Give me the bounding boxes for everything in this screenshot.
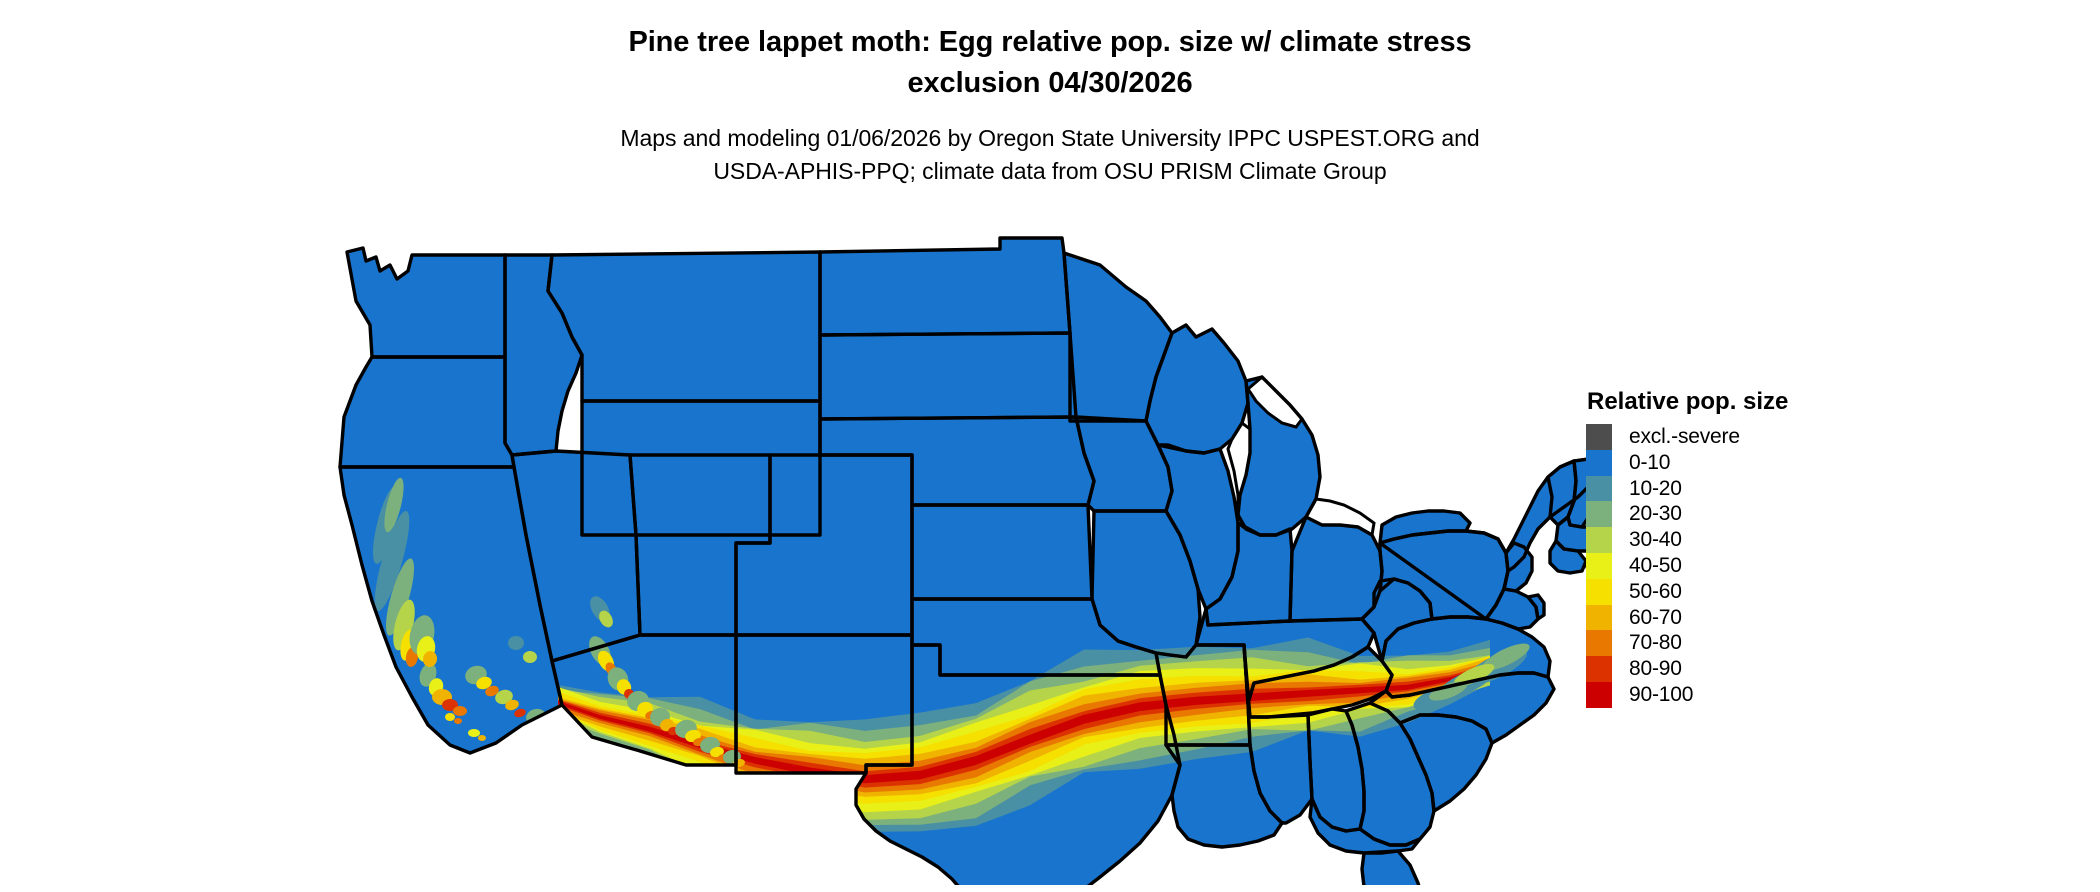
page-subtitle-line-1: Maps and modeling 01/06/2026 by Oregon S… [0,122,2100,155]
suitability-hotspot [453,706,467,716]
legend-item-label: 0-10 [1612,450,1670,476]
legend-item-label: 80-90 [1612,656,1682,682]
legend-item-label: 90-100 [1612,682,1693,708]
legend-swatch [1586,579,1612,605]
page-subtitle: Maps and modeling 01/06/2026 by Oregon S… [0,104,2100,188]
legend-item: 40-50 [1586,553,1916,579]
legend-swatch [1586,682,1612,708]
legend-swatch [1586,527,1612,553]
state-sd [820,333,1076,419]
legend-swatch [1586,450,1612,476]
suitability-hotspot [545,728,559,739]
state-mt [548,252,820,401]
legend-item-label: 10-20 [1612,476,1682,502]
legend-swatch [1586,553,1612,579]
page-title: Pine tree lappet moth: Egg relative pop.… [0,0,2100,104]
suitability-hotspot [468,729,480,737]
legend-items: excl.-severe0-1010-2020-3030-4040-5050-6… [1586,424,1916,708]
legend-item-label: 20-30 [1612,501,1682,527]
legend-swatch [1586,424,1612,450]
legend-item: 90-100 [1586,682,1916,708]
suitability-hotspot [454,718,462,724]
header: Pine tree lappet moth: Egg relative pop.… [0,0,2100,188]
legend-item-label: 30-40 [1612,527,1682,553]
map-page: Pine tree lappet moth: Egg relative pop.… [0,0,2100,892]
legend-item: 30-40 [1586,527,1916,553]
suitability-hotspot [391,679,401,687]
legend-item: 50-60 [1586,579,1916,605]
page-subtitle-line-2: USDA-APHIS-PPQ; climate data from OSU PR… [0,155,2100,188]
suitability-hotspot [523,651,537,663]
legend-item-label: excl.-severe [1612,424,1740,450]
legend-item: 0-10 [1586,450,1916,476]
legend-item: 10-20 [1586,476,1916,502]
state-ks [912,505,1092,599]
page-title-line-2: exclusion 04/30/2026 [0,63,2100,104]
suitability-hotspot [445,713,455,721]
legend-item-label: 60-70 [1612,605,1682,631]
legend-swatch [1586,501,1612,527]
page-title-line-1: Pine tree lappet moth: Egg relative pop.… [0,22,2100,63]
legend-item-label: 50-60 [1612,579,1682,605]
legend-item-label: 70-80 [1612,630,1682,656]
suitability-hotspot [508,636,524,650]
legend-title: Relative pop. size [1586,388,1916,416]
legend-swatch [1586,476,1612,502]
legend-swatch [1586,656,1612,682]
legend-item: 80-90 [1586,656,1916,682]
state-or [340,357,514,467]
legend-item: excl.-severe [1586,424,1916,450]
suitability-hotspot [536,717,552,732]
suitability-hotspot [478,735,486,741]
legend-swatch [1586,605,1612,631]
legend-swatch [1586,630,1612,656]
legend-item: 60-70 [1586,605,1916,631]
map-canvas [300,205,1600,885]
us-choropleth-map [300,205,1600,885]
legend-item: 20-30 [1586,501,1916,527]
legend-item: 70-80 [1586,630,1916,656]
legend: Relative pop. size excl.-severe0-1010-20… [1586,388,1916,708]
legend-item-label: 40-50 [1612,553,1682,579]
